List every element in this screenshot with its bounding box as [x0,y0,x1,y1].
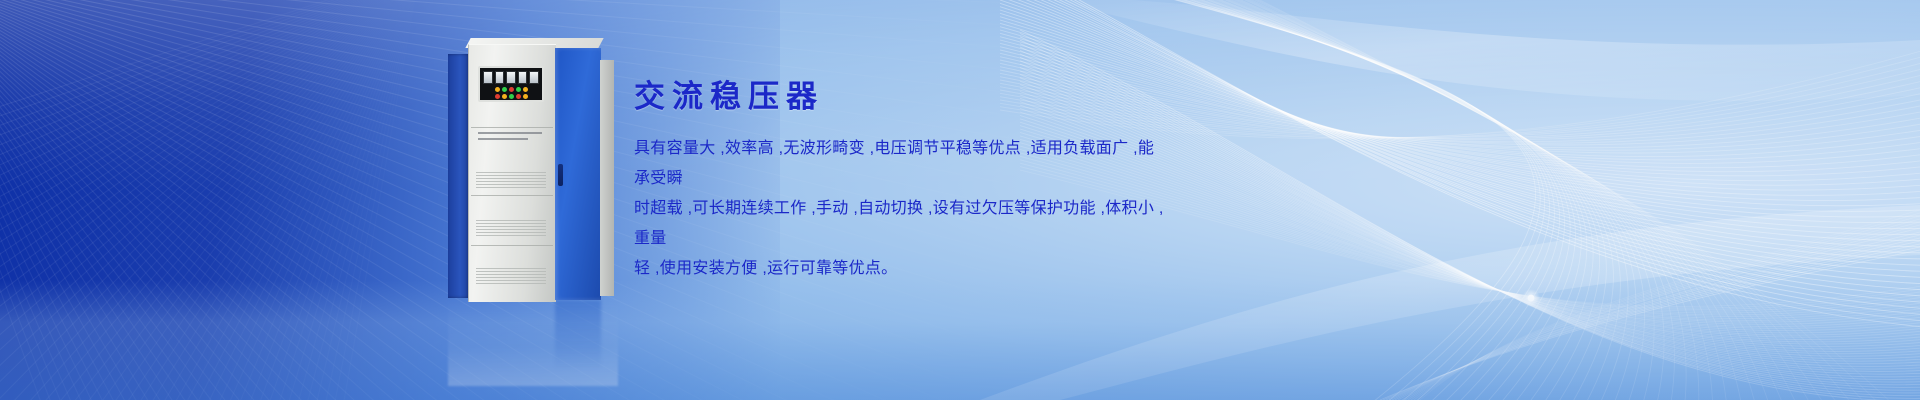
product-nameplate [478,132,542,144]
indicator-lamp-row-2 [483,94,539,99]
meter-gauge [518,71,528,84]
meter-gauge [495,71,505,84]
page-title: 交流稳压器 [634,80,1164,114]
banner-copy: 交流稳压器 具有容量大 ,效率高 ,无波形畸变 ,电压调节平稳等优点 ,适用负载… [634,80,1164,284]
ventilation-grille [476,268,546,286]
indicator-lamp [509,87,514,92]
product-banner: 交流稳压器 具有容量大 ,效率高 ,无波形畸变 ,电压调节平稳等优点 ,适用负载… [0,0,1920,400]
description-line-1: 具有容量大 ,效率高 ,无波形畸变 ,电压调节平稳等优点 ,适用负载面广 ,能承… [634,134,1164,194]
indicator-lamp [495,87,500,92]
product-image [448,44,618,302]
indicator-lamp [523,87,528,92]
product-reflection-blue [555,300,601,370]
indicator-lamp [502,94,507,99]
indicator-lamp-row-1 [483,87,539,92]
indicator-lamp [523,94,528,99]
ventilation-grille [476,220,546,238]
description-line-2: 时超载 ,可长期连续工作 ,手动 ,自动切换 ,设有过欠压等保护功能 ,体积小 … [634,194,1164,254]
description-line-3: 轻 ,使用安装方便 ,运行可靠等优点。 [634,254,1164,284]
ventilation-grille [476,172,546,190]
banner-description: 具有容量大 ,效率高 ,无波形畸变 ,电压调节平稳等优点 ,适用负载面广 ,能承… [634,134,1164,284]
meter-gauge [529,71,539,84]
indicator-lamp [502,87,507,92]
cabinet-right-edge [600,60,614,296]
door-handle [558,164,563,186]
control-panel [478,66,544,102]
cabinet-left-face [448,54,470,298]
meter-gauge [506,71,516,84]
indicator-lamp [516,87,521,92]
indicator-lamp [516,94,521,99]
meter-row [483,71,539,84]
indicator-lamp [495,94,500,99]
indicator-lamp [509,94,514,99]
meter-gauge [483,71,493,84]
